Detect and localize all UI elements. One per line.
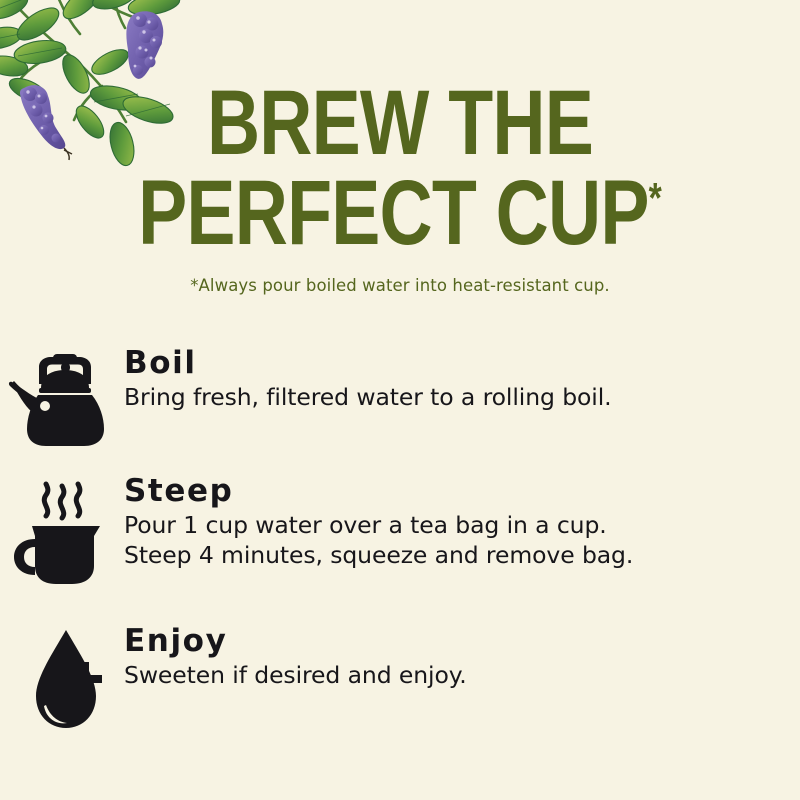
step-steep-line-2: Steep 4 minutes, squeeze and remove bag. <box>124 540 633 570</box>
flower-speckles-upper <box>134 16 156 67</box>
steps-list: Boil Bring fresh, filtered water to a ro… <box>0 348 800 746</box>
step-enjoy-line-1: Sweeten if desired and enjoy. <box>124 660 467 690</box>
asterisk-marker: * <box>649 175 662 222</box>
kettle-icon <box>8 350 112 450</box>
step-enjoy: Enjoy Sweeten if desired and enjoy. <box>0 626 800 746</box>
step-boil-line-1: Bring fresh, filtered water to a rolling… <box>124 382 612 412</box>
brew-instructions-card: BREW THE PERFECT CUP* *Always pour boile… <box>0 0 800 800</box>
step-boil-icon-wrap <box>0 348 120 450</box>
steaming-mug-icon <box>8 478 112 590</box>
step-boil: Boil Bring fresh, filtered water to a ro… <box>0 348 800 476</box>
page-title-line-1: BREW THE <box>80 78 720 168</box>
plus-icon <box>68 662 102 696</box>
plus-icon-wrap <box>68 662 102 696</box>
page-title-block: BREW THE PERFECT CUP* <box>0 78 800 258</box>
footnote-text: *Always pour boiled water into heat-resi… <box>0 276 800 295</box>
step-steep-icon-wrap <box>0 476 120 590</box>
flower-cluster-upper <box>126 11 163 79</box>
mug-body <box>14 526 100 584</box>
step-steep-text: Steep Pour 1 cup water over a tea bag in… <box>120 476 633 570</box>
step-enjoy-icon-wrap <box>0 626 120 732</box>
step-steep: Steep Pour 1 cup water over a tea bag in… <box>0 476 800 626</box>
step-boil-text: Boil Bring fresh, filtered water to a ro… <box>120 348 612 412</box>
kettle-highlight-dot <box>40 401 50 411</box>
steam-lines <box>44 484 80 518</box>
step-steep-title: Steep <box>124 476 633 507</box>
page-title-line-2-text: PERFECT CUP <box>138 162 649 264</box>
step-steep-line-1: Pour 1 cup water over a tea bag in a cup… <box>124 510 633 540</box>
page-title-line-2: PERFECT CUP* <box>80 168 720 258</box>
step-enjoy-text: Enjoy Sweeten if desired and enjoy. <box>120 626 467 690</box>
step-enjoy-title: Enjoy <box>124 626 467 657</box>
step-boil-title: Boil <box>124 348 612 379</box>
